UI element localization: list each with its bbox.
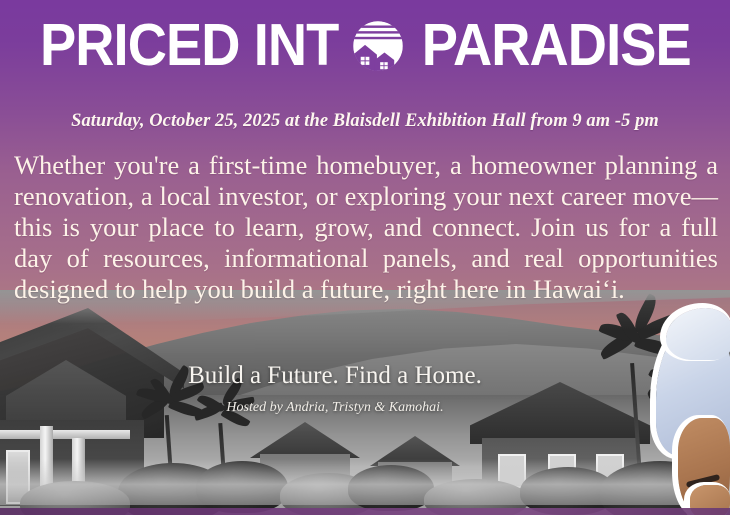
ground-haze <box>0 459 730 505</box>
page-title: PRICED INT <box>0 16 730 75</box>
event-tagline: Build a Future. Find a Home. <box>0 362 730 390</box>
house-mid-roof <box>250 422 360 458</box>
event-description: Whether you're a first-time homebuyer, a… <box>14 150 718 305</box>
house-sun-circle-icon <box>351 19 405 73</box>
bottom-purple-strip <box>0 508 730 515</box>
headline-part-2: PARADISE <box>422 16 691 75</box>
event-dateline: Saturday, October 25, 2025 at the Blaisd… <box>11 110 719 132</box>
person-shoulder <box>666 308 730 360</box>
event-poster: PRICED INT <box>0 0 730 515</box>
house-left-eave <box>0 430 130 439</box>
headline-part-1: PRICED INT <box>40 16 338 75</box>
hosted-by-line: Hosted by Andria, Tristyn & Kamohai. <box>0 400 730 416</box>
